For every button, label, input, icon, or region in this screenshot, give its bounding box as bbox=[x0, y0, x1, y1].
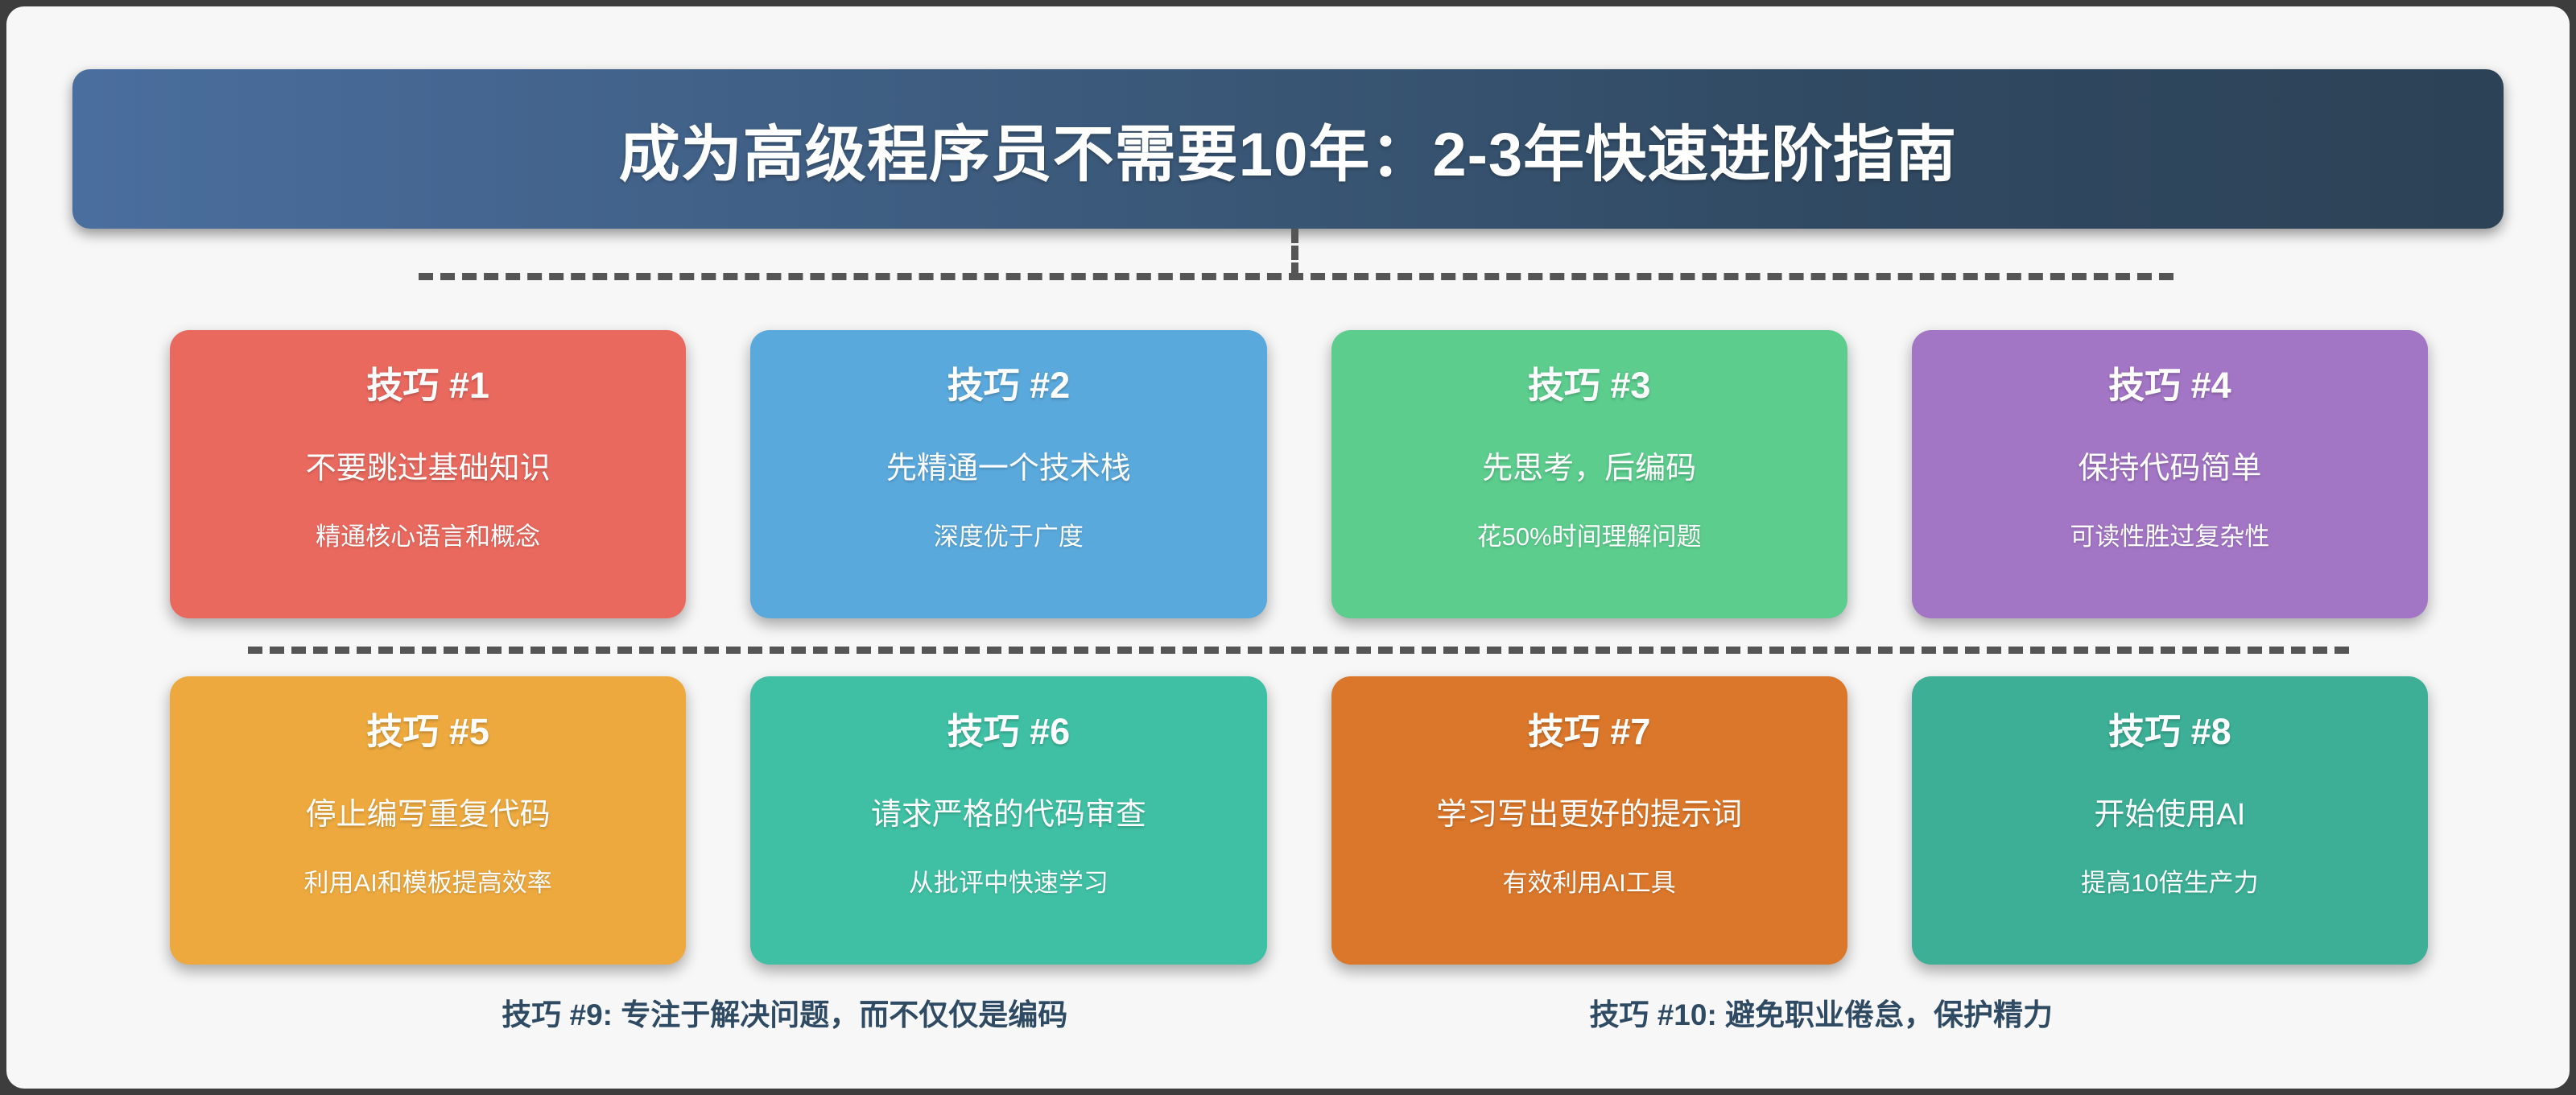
card-row-1: 技巧 #1 不要跳过基础知识 精通核心语言和概念 技巧 #2 先精通一个技术栈 … bbox=[170, 330, 2428, 618]
footnote-tip-9: 技巧 #9: 专注于解决问题，而不仅仅是编码 bbox=[266, 990, 1303, 1034]
outer-frame: 成为高级程序员不需要10年：2-3年快速进阶指南 技巧 #1 不要跳过基础知识 … bbox=[0, 0, 2576, 1095]
tip-card-6[interactable]: 技巧 #6 请求严格的代码审查 从批评中快速学习 bbox=[750, 676, 1266, 965]
tip-card-headline: 先精通一个技术栈 bbox=[886, 443, 1131, 487]
tip-card-subtext: 提高10倍生产力 bbox=[2081, 862, 2258, 899]
tip-card-headline: 学习写出更好的提示词 bbox=[1436, 789, 1742, 833]
footnotes: 技巧 #9: 专注于解决问题，而不仅仅是编码 技巧 #10: 避免职业倦怠，保护… bbox=[170, 990, 2428, 1034]
tip-card-title: 技巧 #5 bbox=[366, 712, 489, 752]
tip-card-title: 技巧 #6 bbox=[947, 712, 1071, 752]
tip-card-4[interactable]: 技巧 #4 保持代码简单 可读性胜过复杂性 bbox=[1912, 330, 2428, 618]
tip-card-subtext: 从批评中快速学习 bbox=[909, 862, 1108, 899]
infographic-page: 成为高级程序员不需要10年：2-3年快速进阶指南 技巧 #1 不要跳过基础知识 … bbox=[6, 6, 2570, 1089]
tip-card-subtext: 花50%时间理解问题 bbox=[1477, 516, 1702, 552]
tip-card-2[interactable]: 技巧 #2 先精通一个技术栈 深度优于广度 bbox=[750, 330, 1266, 618]
tip-card-headline: 开始使用AI bbox=[2094, 789, 2245, 833]
tip-card-subtext: 有效利用AI工具 bbox=[1502, 862, 1675, 899]
page-title: 成为高级程序员不需要10年：2-3年快速进阶指南 bbox=[619, 105, 1957, 193]
tip-card-title: 技巧 #7 bbox=[1528, 712, 1651, 752]
tip-card-headline: 请求严格的代码审查 bbox=[871, 789, 1146, 833]
tip-card-subtext: 利用AI和模板提高效率 bbox=[303, 862, 551, 899]
tip-card-3[interactable]: 技巧 #3 先思考，后编码 花50%时间理解问题 bbox=[1331, 330, 1847, 618]
card-row-2: 技巧 #5 停止编写重复代码 利用AI和模板提高效率 技巧 #6 请求严格的代码… bbox=[170, 676, 2428, 965]
tip-card-subtext: 可读性胜过复杂性 bbox=[2070, 516, 2269, 552]
tip-card-headline: 停止编写重复代码 bbox=[306, 789, 551, 833]
tip-card-title: 技巧 #4 bbox=[2108, 366, 2231, 406]
tip-card-5[interactable]: 技巧 #5 停止编写重复代码 利用AI和模板提高效率 bbox=[170, 676, 686, 965]
footnote-tip-10: 技巧 #10: 避免职业倦怠，保护精力 bbox=[1303, 990, 2340, 1034]
tip-card-1[interactable]: 技巧 #1 不要跳过基础知识 精通核心语言和概念 bbox=[170, 330, 686, 618]
tip-card-title: 技巧 #2 bbox=[947, 366, 1071, 406]
divider-upper bbox=[419, 273, 2173, 280]
connector-title-to-row1 bbox=[1291, 229, 1298, 277]
tip-card-title: 技巧 #8 bbox=[2108, 712, 2231, 752]
tip-card-title: 技巧 #1 bbox=[366, 366, 489, 406]
tip-card-headline: 先思考，后编码 bbox=[1482, 443, 1696, 487]
tip-card-7[interactable]: 技巧 #7 学习写出更好的提示词 有效利用AI工具 bbox=[1331, 676, 1847, 965]
divider-middle bbox=[248, 647, 2349, 654]
tip-card-subtext: 精通核心语言和概念 bbox=[316, 516, 540, 552]
title-banner: 成为高级程序员不需要10年：2-3年快速进阶指南 bbox=[72, 69, 2504, 229]
tip-card-8[interactable]: 技巧 #8 开始使用AI 提高10倍生产力 bbox=[1912, 676, 2428, 965]
tip-card-subtext: 深度优于广度 bbox=[934, 516, 1084, 552]
tip-card-headline: 不要跳过基础知识 bbox=[306, 443, 551, 487]
tip-card-title: 技巧 #3 bbox=[1528, 366, 1651, 406]
tip-card-headline: 保持代码简单 bbox=[2078, 443, 2261, 487]
